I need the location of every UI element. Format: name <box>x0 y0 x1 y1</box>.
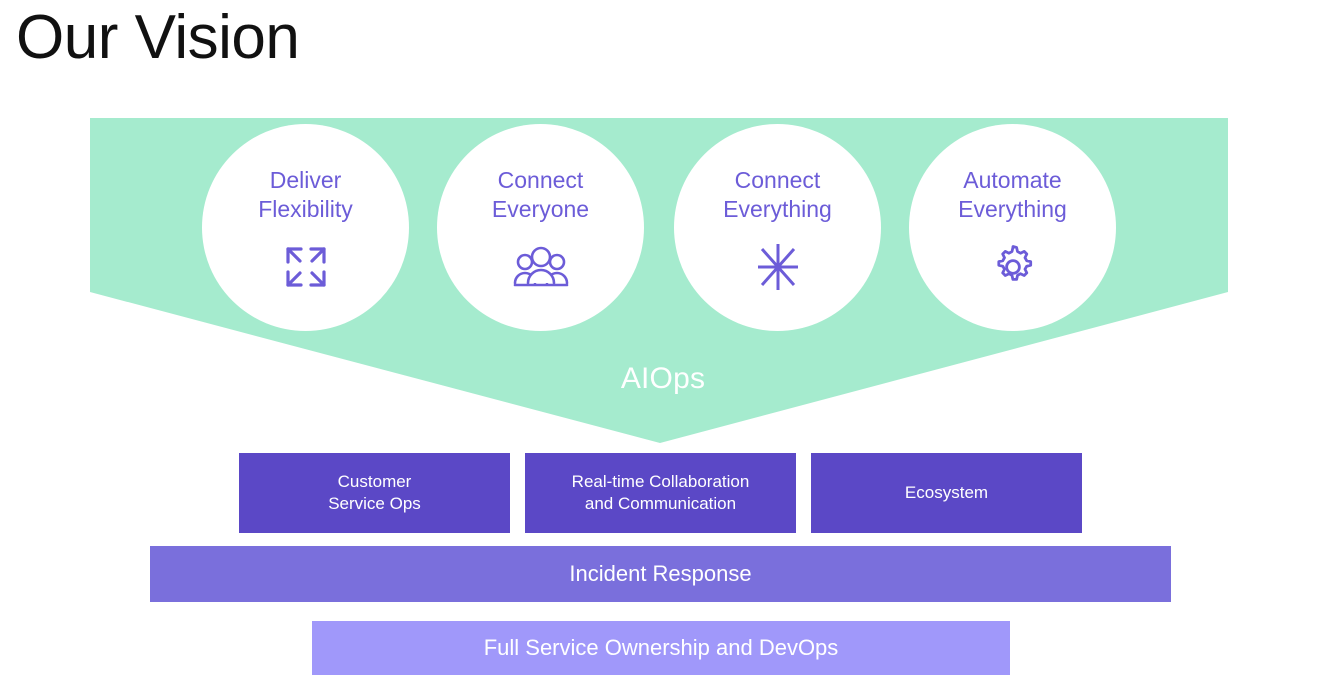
foundation-bar-label: Full Service Ownership and DevOps <box>484 635 839 661</box>
page-title: Our Vision <box>16 2 299 73</box>
funnel-label: AIOps <box>0 362 1326 396</box>
foundation-box-customer-service-ops[interactable]: Customer Service Ops <box>239 453 510 533</box>
pillar-label: Deliver Flexibility <box>258 166 353 224</box>
pillar-label: Automate Everything <box>958 166 1067 224</box>
foundation-box-label: Real-time Collaboration and Communicatio… <box>572 471 750 515</box>
gear-icon <box>984 238 1042 296</box>
pillar-label: Connect Everyone <box>492 166 589 224</box>
pillar-automate-everything[interactable]: Automate Everything <box>909 124 1116 331</box>
foundation-bar-incident-response[interactable]: Incident Response <box>150 546 1171 602</box>
foundation-box-realtime-collaboration[interactable]: Real-time Collaboration and Communicatio… <box>525 453 796 533</box>
people-group-icon <box>512 238 570 296</box>
foundation-box-ecosystem[interactable]: Ecosystem <box>811 453 1082 533</box>
pillar-connect-everything[interactable]: Connect Everything <box>674 124 881 331</box>
asterisk-burst-icon <box>749 238 807 296</box>
pillar-deliver-flexibility[interactable]: Deliver Flexibility <box>202 124 409 331</box>
expand-arrows-icon <box>277 238 335 296</box>
foundation-box-label: Ecosystem <box>905 482 988 504</box>
foundation-box-label: Customer Service Ops <box>328 471 421 515</box>
pillar-label: Connect Everything <box>723 166 832 224</box>
foundation-bar-full-service-ownership[interactable]: Full Service Ownership and DevOps <box>312 621 1010 675</box>
foundation-bar-label: Incident Response <box>569 561 751 587</box>
pillar-connect-everyone[interactable]: Connect Everyone <box>437 124 644 331</box>
